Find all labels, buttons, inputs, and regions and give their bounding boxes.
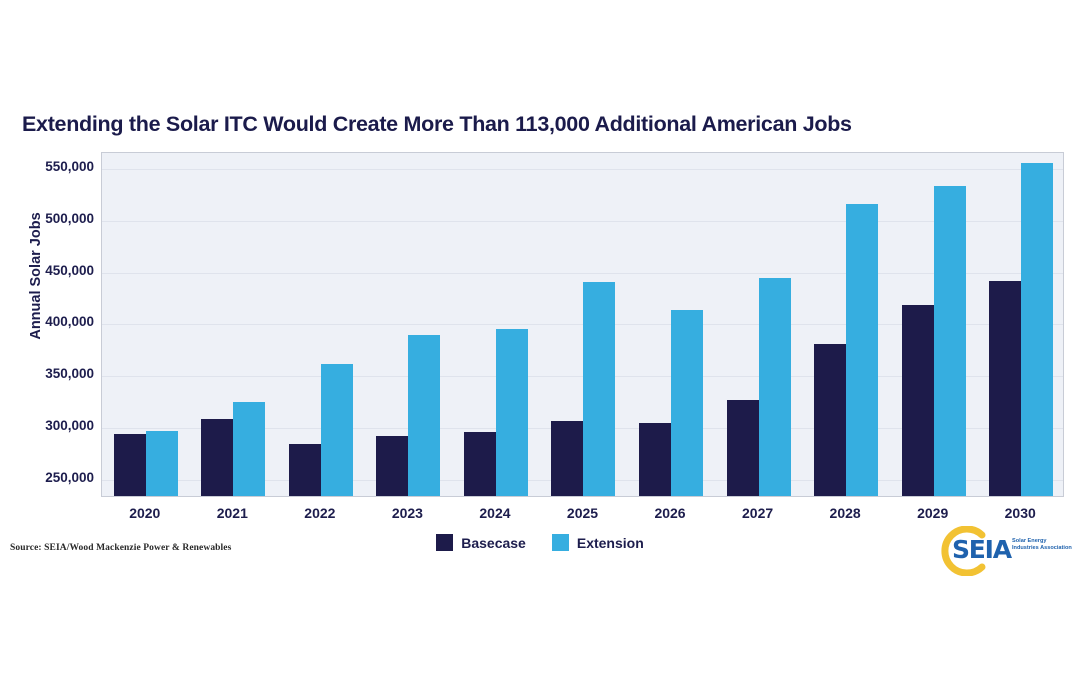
bar-group	[627, 153, 715, 496]
y-tick-label: 400,000	[2, 314, 94, 329]
seia-logo: SEIA Solar Energy Industries Association	[938, 524, 1074, 578]
chart-canvas: Extending the Solar ITC Would Create Mor…	[0, 0, 1080, 675]
y-tick-label: 550,000	[2, 159, 94, 174]
plot-area	[101, 152, 1064, 497]
bar-basecase-2027	[727, 400, 759, 496]
bar-extension-2027	[759, 278, 791, 496]
bar-group	[452, 153, 540, 496]
legend-label: Extension	[577, 535, 644, 551]
x-tick-label: 2021	[187, 505, 277, 521]
x-tick-label: 2028	[800, 505, 890, 521]
bar-group	[190, 153, 278, 496]
bar-basecase-2028	[814, 344, 846, 496]
x-tick-label: 2020	[100, 505, 190, 521]
bars-layer	[102, 153, 1063, 496]
seia-tagline: Solar Energy Industries Association	[1012, 538, 1074, 553]
bar-basecase-2025	[551, 421, 583, 496]
bar-basecase-2024	[464, 432, 496, 496]
seia-wordmark: SEIA	[952, 535, 1011, 564]
bar-group	[977, 153, 1065, 496]
bar-extension-2020	[146, 431, 178, 496]
bar-basecase-2026	[639, 423, 671, 496]
y-tick-label: 300,000	[2, 418, 94, 433]
chart-title: Extending the Solar ITC Would Create Mor…	[22, 112, 1072, 137]
y-axis-title: Annual Solar Jobs	[28, 196, 44, 356]
legend-swatch-extension	[552, 534, 569, 551]
y-tick-label: 450,000	[2, 263, 94, 278]
bar-extension-2026	[671, 310, 703, 496]
bar-group	[540, 153, 628, 496]
x-tick-label: 2027	[713, 505, 803, 521]
bar-basecase-2022	[289, 444, 321, 496]
bar-extension-2022	[321, 364, 353, 496]
bar-group	[102, 153, 190, 496]
x-tick-label: 2026	[625, 505, 715, 521]
bar-extension-2028	[846, 204, 878, 496]
x-tick-label: 2029	[888, 505, 978, 521]
y-tick-label: 500,000	[2, 211, 94, 226]
bar-group	[277, 153, 365, 496]
y-tick-label: 350,000	[2, 366, 94, 381]
legend-item-extension: Extension	[552, 534, 644, 551]
source-note: Source: SEIA/Wood Mackenzie Power & Rene…	[10, 543, 231, 553]
y-tick-label: 250,000	[2, 470, 94, 485]
bar-extension-2025	[583, 282, 615, 496]
x-tick-label: 2022	[275, 505, 365, 521]
bar-extension-2023	[408, 335, 440, 496]
bar-extension-2030	[1021, 163, 1053, 496]
legend-item-basecase: Basecase	[436, 534, 526, 551]
bar-extension-2021	[233, 402, 265, 496]
bar-group	[365, 153, 453, 496]
x-tick-label: 2030	[975, 505, 1065, 521]
bar-extension-2024	[496, 329, 528, 496]
bar-group	[802, 153, 890, 496]
bar-group	[890, 153, 978, 496]
x-tick-label: 2023	[362, 505, 452, 521]
bar-basecase-2023	[376, 436, 408, 496]
bar-basecase-2021	[201, 419, 233, 496]
legend-swatch-basecase	[436, 534, 453, 551]
bar-basecase-2030	[989, 281, 1021, 496]
legend-label: Basecase	[461, 535, 526, 551]
x-tick-label: 2025	[538, 505, 628, 521]
bar-group	[715, 153, 803, 496]
bar-basecase-2029	[902, 305, 934, 496]
x-tick-label: 2024	[450, 505, 540, 521]
bar-basecase-2020	[114, 434, 146, 496]
bar-extension-2029	[934, 186, 966, 496]
